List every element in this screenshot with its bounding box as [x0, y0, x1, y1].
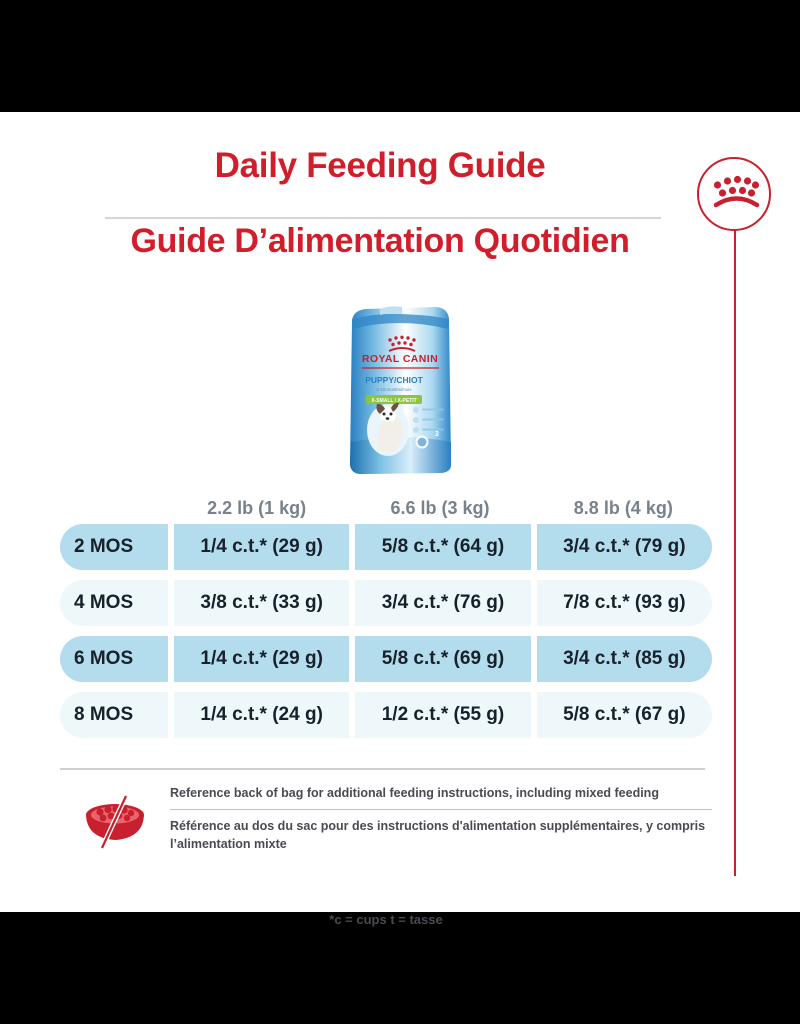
svg-text:X-SMALL / X-PETIT: X-SMALL / X-PETIT	[371, 398, 416, 404]
feeding-note-french: Référence au dos du sac pour des instruc…	[170, 817, 712, 853]
svg-text:2-10 months/mois: 2-10 months/mois	[377, 387, 413, 392]
table-cell: 1/4 c.t.* (24 g)	[174, 692, 349, 738]
column-header-weight-3: 8.8 lb (4 kg)	[535, 498, 712, 524]
table-cell: 3/4 c.t.* (79 g)	[537, 524, 712, 570]
row-label-age: 2 MOS	[60, 524, 168, 570]
table-header-row: 2.2 lb (1 kg) 6.6 lb (3 kg) 8.8 lb (4 kg…	[60, 490, 712, 524]
column-header-weight-1: 2.2 lb (1 kg)	[168, 498, 345, 524]
page-title: Daily Feeding Guide	[0, 148, 760, 185]
svg-text:ROYAL CANIN: ROYAL CANIN	[362, 353, 438, 365]
feeding-note-english: Reference back of bag for additional fee…	[170, 784, 712, 802]
table-cell: 3/4 c.t.* (76 g)	[355, 580, 530, 626]
row-label-age: 4 MOS	[60, 580, 168, 626]
product-bag-image: ROYAL CANIN PUPPY/CHIOT 2-10 months/mois…	[344, 302, 456, 477]
footer-divider	[60, 768, 705, 770]
table-row: 6 MOS 1/4 c.t.* (29 g) 5/8 c.t.* (69 g) …	[60, 636, 712, 682]
title-french: Guide D’alimentation Quotidien	[0, 224, 760, 260]
table-cell: 1/4 c.t.* (29 g)	[174, 636, 349, 682]
column-header-weight-2: 6.6 lb (3 kg)	[351, 498, 528, 524]
table-cell: 5/8 c.t.* (69 g)	[355, 636, 530, 682]
dog-bowl-icon	[60, 782, 170, 852]
feeding-table: 2.2 lb (1 kg) 6.6 lb (3 kg) 8.8 lb (4 kg…	[60, 490, 712, 748]
svg-text:PUPPY/CHIOT: PUPPY/CHIOT	[365, 375, 423, 385]
table-cell: 5/8 c.t.* (67 g)	[537, 692, 712, 738]
page-canvas: Daily Feeding Guide Guide D’alimentation…	[0, 112, 800, 912]
table-row: 4 MOS 3/8 c.t.* (33 g) 3/4 c.t.* (76 g) …	[60, 580, 712, 626]
table-cell: 1/2 c.t.* (55 g)	[355, 692, 530, 738]
units-legend: *c = cups t = tasse	[60, 912, 712, 927]
brand-vertical-line	[734, 204, 736, 876]
table-row: 2 MOS 1/4 c.t.* (29 g) 5/8 c.t.* (64 g) …	[60, 524, 712, 570]
note-divider	[170, 809, 712, 810]
table-cell: 3/8 c.t.* (33 g)	[174, 580, 349, 626]
table-cell: 5/8 c.t.* (64 g)	[355, 524, 530, 570]
row-label-age: 6 MOS	[60, 636, 168, 682]
table-cell: 7/8 c.t.* (93 g)	[537, 580, 712, 626]
title-english: Daily Feeding Guide	[0, 148, 760, 185]
table-cell: 1/4 c.t.* (29 g)	[174, 524, 349, 570]
row-label-age: 8 MOS	[60, 692, 168, 738]
table-cell: 3/4 c.t.* (85 g)	[537, 636, 712, 682]
svg-text:3: 3	[435, 431, 439, 438]
footer-notes: Reference back of bag for additional fee…	[60, 782, 712, 853]
table-row: 8 MOS 1/4 c.t.* (24 g) 1/2 c.t.* (55 g) …	[60, 692, 712, 738]
title-divider	[105, 217, 661, 219]
